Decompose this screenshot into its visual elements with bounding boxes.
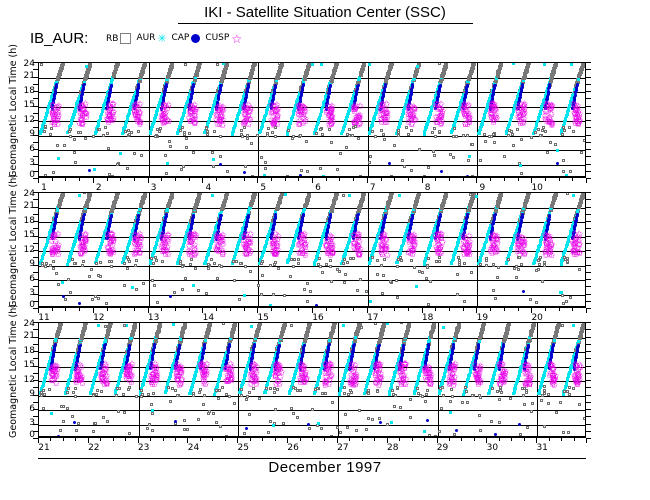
- y-tick: [33, 301, 38, 302]
- data-point-rb: [73, 138, 76, 141]
- data-point-rb: [220, 265, 223, 268]
- data-point-rb: [539, 256, 542, 259]
- data-point-rb: [225, 192, 229, 196]
- data-point-cusp: ✩: [243, 245, 250, 252]
- data-point-rb: [507, 258, 510, 261]
- h-gridline: [39, 266, 585, 267]
- data-point-rb: [44, 125, 47, 128]
- data-point-rb: [512, 144, 515, 147]
- y-tick-right: [586, 171, 591, 172]
- y-tick: [33, 62, 38, 63]
- h-gridline: [39, 107, 585, 108]
- data-point-cusp: ✩: [520, 120, 527, 127]
- data-point-cusp: ✩: [214, 110, 221, 117]
- data-point-aur: [192, 284, 195, 287]
- data-point-rb: [541, 280, 544, 283]
- data-point-rb: [479, 159, 482, 162]
- data-point-rb: [156, 301, 159, 304]
- data-point-aur: [61, 281, 64, 284]
- data-point-rb: [376, 273, 379, 276]
- data-point-aur: [543, 63, 546, 66]
- data-point-cusp: ✩: [105, 251, 112, 258]
- data-point-rb: [60, 405, 63, 408]
- data-point-aur: [560, 291, 563, 294]
- data-point-rb: [497, 266, 500, 269]
- data-point-rb: [463, 300, 466, 303]
- x-tick: [518, 178, 519, 181]
- data-point-rb: [306, 300, 309, 303]
- data-point-aur: [57, 157, 60, 160]
- y-tick-right: [586, 62, 591, 63]
- data-point-rb: [104, 126, 107, 129]
- data-point-rb: [496, 276, 499, 279]
- x-tick: [161, 308, 162, 311]
- data-point-rb: [470, 271, 473, 274]
- data-point-rb: [52, 260, 55, 263]
- data-point-rb: [342, 194, 345, 197]
- data-point-cap: [494, 84, 497, 87]
- data-point-aur: [243, 294, 246, 297]
- data-point-cap: [88, 169, 91, 172]
- y-tick-label-24: 24: [20, 320, 35, 329]
- data-point-rb: [345, 146, 348, 149]
- x-tick: [107, 308, 108, 311]
- data-point-rb: [240, 129, 243, 132]
- data-point-rb: [88, 275, 91, 278]
- y-tick-right: [586, 77, 591, 78]
- data-point-rb: [383, 258, 386, 261]
- y-tick: [33, 98, 38, 99]
- data-point-aur: [570, 63, 573, 66]
- plot-panel-1: Geomagnetic Local Time (h)24211815129630…: [38, 192, 586, 308]
- v-gridline: [139, 323, 140, 436]
- x-tick: [463, 178, 464, 181]
- data-point-rb: [456, 293, 459, 296]
- x-tick: [93, 178, 94, 183]
- data-point-rb: [410, 259, 413, 262]
- data-point-rb: [381, 292, 384, 295]
- data-point-cusp: ✩: [163, 235, 170, 242]
- x-tick: [38, 178, 39, 183]
- data-point-rb: [346, 261, 349, 264]
- data-point-rb: [190, 258, 193, 261]
- data-point-rb: [371, 130, 374, 133]
- data-point-rb: [292, 135, 295, 138]
- data-point-cusp: ✩: [134, 242, 141, 249]
- data-point-cusp: ✩: [465, 120, 472, 127]
- x-tick: [435, 308, 436, 311]
- x-tick: [298, 308, 299, 311]
- x-tick: [216, 178, 217, 181]
- data-point-rb: [484, 140, 487, 143]
- data-point-rb: [537, 259, 540, 262]
- data-point-rb: [537, 268, 540, 271]
- v-gridline: [238, 323, 239, 436]
- data-point-rb: [305, 140, 308, 143]
- data-point-rb: [88, 62, 92, 65]
- data-point-cusp: ✩: [487, 247, 494, 254]
- data-point-rb: [433, 154, 436, 157]
- data-point-rb: [153, 284, 156, 287]
- data-point-rb: [126, 167, 129, 170]
- h-gridline: [39, 222, 585, 223]
- data-point-rb: [81, 264, 84, 267]
- data-point-cusp: ✩: [110, 102, 117, 109]
- data-point-rb: [123, 262, 126, 265]
- data-point-rb: [462, 134, 465, 137]
- legend-label-cusp: CUSP: [205, 33, 229, 43]
- data-point-rb: [421, 271, 424, 274]
- data-point-rb: [181, 265, 184, 268]
- data-point-aur: [452, 256, 455, 259]
- y-tick-right: [586, 106, 591, 107]
- data-point-aur: [572, 194, 575, 197]
- data-point-aur: [166, 162, 169, 165]
- data-point-rb: [164, 154, 167, 157]
- data-point-rb: [173, 291, 176, 294]
- data-point-rb: [256, 134, 259, 137]
- x-tick: [586, 178, 587, 183]
- data-point-cusp: ✩: [187, 119, 194, 126]
- data-point-rb: [182, 165, 185, 168]
- data-point-rb: [197, 289, 200, 292]
- data-point-rb: [303, 288, 306, 291]
- x-tick: [298, 178, 299, 181]
- data-point-rb: [249, 270, 252, 273]
- data-point-rb: [40, 391, 43, 394]
- x-tick: [189, 308, 190, 311]
- y-tick: [33, 236, 38, 237]
- data-point-cap: [384, 214, 387, 217]
- data-point-cap: [439, 213, 442, 216]
- data-point-rb: [184, 277, 187, 280]
- y-tick-right: [586, 91, 591, 92]
- y-tick: [33, 243, 38, 244]
- data-point-rb: [321, 133, 324, 136]
- data-point-rb: [335, 62, 339, 66]
- data-point-aur: [212, 158, 215, 161]
- data-point-rb: [538, 263, 541, 266]
- data-point-rb: [568, 126, 571, 129]
- legend-item-cap: CAP: [171, 34, 200, 44]
- y-tick-right: [586, 120, 591, 121]
- data-point-aur: [263, 174, 266, 177]
- data-point-cap: [220, 214, 223, 217]
- v-gridline: [438, 323, 439, 436]
- data-point-aur: [416, 65, 419, 68]
- x-tick: [148, 178, 149, 183]
- data-point-rb: [410, 169, 413, 172]
- data-point-rb: [271, 131, 274, 134]
- filled-circle-icon: [191, 34, 200, 43]
- data-point-cusp: ✩: [352, 247, 359, 254]
- data-point-aur: [211, 194, 214, 197]
- data-point-aur: [284, 193, 287, 196]
- data-point-rb: [452, 156, 455, 159]
- data-point-rb: [290, 258, 293, 261]
- data-point-rb: [143, 192, 147, 195]
- data-point-rb: [137, 130, 140, 133]
- v-gridline: [368, 63, 369, 176]
- x-tick: [408, 308, 409, 311]
- x-tick: [394, 178, 395, 181]
- data-point-cusp: ✩: [185, 104, 192, 111]
- data-point-rb: [269, 264, 272, 267]
- data-point-rb: [396, 265, 399, 268]
- y-tick: [33, 164, 38, 165]
- data-point-cap: [357, 84, 360, 87]
- data-point-cusp: ✩: [136, 119, 143, 126]
- y-tick: [33, 207, 38, 208]
- y-tick: [33, 120, 38, 121]
- data-point-cusp: ✩: [192, 107, 199, 114]
- data-point-rb: [260, 293, 263, 296]
- data-point-rb: [260, 156, 263, 159]
- data-point-rb: [362, 62, 366, 66]
- y-tick: [33, 91, 38, 92]
- data-point-rb: [82, 260, 85, 263]
- data-point-rb: [396, 296, 399, 299]
- data-point-cap: [465, 220, 468, 223]
- data-point-cap: [329, 84, 332, 87]
- data-point-rb: [278, 62, 281, 65]
- data-point-rb: [287, 129, 290, 132]
- data-point-cap: [384, 83, 387, 86]
- data-point-cap: [299, 174, 302, 177]
- data-point-cusp: ✩: [435, 246, 442, 253]
- data-point-cusp: ✩: [243, 252, 250, 259]
- data-point-rb: [429, 280, 432, 283]
- data-point-cusp: ✩: [571, 232, 578, 239]
- data-point-rb: [469, 193, 472, 196]
- data-point-rb: [306, 282, 309, 285]
- data-point-rb: [216, 63, 219, 66]
- data-point-rb: [83, 192, 86, 194]
- data-point-rb: [580, 151, 583, 154]
- data-point-rb: [343, 281, 346, 284]
- data-point-rb: [260, 262, 263, 265]
- data-point-aur: [556, 149, 559, 152]
- data-point-rb: [527, 62, 531, 65]
- data-point-rb: [91, 298, 94, 301]
- data-point-rb: [427, 303, 430, 306]
- data-point-rb: [479, 263, 482, 266]
- data-point-rb: [530, 136, 533, 139]
- data-point-rb: [546, 151, 549, 154]
- y-tick: [33, 142, 38, 143]
- data-point-aur: [425, 125, 428, 128]
- data-point-cusp: ✩: [54, 105, 61, 112]
- y-tick-right: [586, 294, 591, 295]
- data-point-cap: [357, 213, 360, 216]
- data-point-aur: [565, 174, 568, 177]
- x-tick: [490, 308, 491, 311]
- legend-label-aur: AUR: [136, 33, 155, 43]
- h-gridline: [39, 121, 585, 122]
- data-point-rb: [133, 152, 136, 155]
- data-point-cusp: ✩: [243, 117, 250, 124]
- data-point-rb: [527, 192, 531, 195]
- data-point-cusp: ✩: [274, 234, 281, 241]
- data-point-rb: [330, 141, 333, 144]
- legend-item-cusp: CUSP ☆: [205, 34, 240, 44]
- y-tick: [33, 257, 38, 258]
- x-tick: [463, 308, 464, 311]
- data-point-rb: [126, 267, 129, 270]
- data-point-cusp: ✩: [52, 249, 59, 256]
- v-gridline: [258, 63, 259, 176]
- x-tick: [504, 308, 505, 311]
- data-point-rb: [170, 192, 174, 196]
- plot-panel-0: Geomagnetic Local Time (h)24211815129630…: [38, 62, 586, 178]
- data-point-aur: [131, 286, 134, 289]
- data-point-rb: [135, 288, 138, 291]
- plot-area-1: ✩✩✩✩✩✩✩✩✩✩✩✩✩✩✩✩✩✩✩✩✩✩✩✩✩✩✩✩✩✩✩✩✩✩✩✩✩✩✩✩…: [38, 192, 586, 308]
- h-gridline: [39, 165, 585, 166]
- data-point-cusp: ✩: [435, 232, 442, 239]
- x-tick: [120, 178, 121, 181]
- data-point-rb: [110, 260, 113, 263]
- data-point-cusp: ✩: [545, 119, 552, 126]
- data-point-rb: [152, 262, 155, 265]
- data-point-rb: [116, 62, 120, 66]
- data-point-rb: [207, 263, 210, 266]
- data-point-cusp: ✩: [299, 233, 306, 240]
- legend-item-aur: AUR ✳: [136, 34, 166, 44]
- data-point-rb: [79, 131, 82, 134]
- data-point-rb: [183, 133, 186, 136]
- data-point-rb: [277, 267, 280, 270]
- data-point-rb: [185, 146, 188, 149]
- x-tick: [52, 178, 53, 181]
- data-point-cusp: ✩: [462, 105, 469, 112]
- data-point-rb: [212, 165, 215, 168]
- y-tick: [33, 272, 38, 273]
- data-point-rb: [431, 131, 434, 134]
- data-point-aur: [475, 195, 478, 198]
- data-point-rb: [150, 257, 153, 260]
- data-point-rb: [56, 144, 59, 147]
- data-point-rb: [185, 137, 188, 140]
- data-point-rb: [561, 294, 564, 297]
- data-point-rb: [432, 150, 435, 153]
- y-tick-right: [586, 69, 591, 70]
- data-point-rb: [336, 268, 339, 271]
- data-point-rb: [40, 63, 43, 66]
- data-point-rb: [213, 262, 216, 265]
- data-point-rb: [198, 62, 202, 65]
- data-point-rb: [427, 166, 430, 169]
- data-point-aur: [415, 285, 418, 288]
- y-tick: [33, 228, 38, 229]
- x-tick: [107, 178, 108, 181]
- x-tick: [339, 178, 340, 181]
- legend: RB AUR ✳ CAP CUSP ☆: [106, 33, 245, 45]
- series-name-label: IB_AUR:: [30, 30, 88, 47]
- data-point-cap: [243, 171, 246, 174]
- x-tick: [476, 178, 477, 183]
- x-tick: [518, 308, 519, 311]
- data-point-rb: [128, 260, 131, 263]
- y-tick-right: [586, 279, 591, 280]
- data-point-cusp: ✩: [161, 119, 168, 126]
- data-point-rb: [135, 259, 138, 262]
- data-point-rb: [453, 127, 456, 130]
- data-point-cap: [411, 214, 414, 217]
- y-tick-right: [586, 164, 591, 165]
- data-point-cap: [165, 213, 168, 216]
- data-point-rb: [246, 134, 249, 137]
- data-point-rb: [106, 132, 109, 135]
- data-point-cusp: ✩: [136, 232, 143, 239]
- data-point-rb: [383, 138, 386, 141]
- v-gridline: [338, 323, 339, 436]
- data-point-rb: [116, 163, 119, 166]
- data-point-rb: [246, 137, 249, 140]
- data-point-aur: [315, 258, 318, 261]
- x-tick: [394, 308, 395, 311]
- data-point-rb: [343, 258, 346, 261]
- h-gridline: [39, 237, 585, 238]
- data-point-cusp: ✩: [382, 111, 389, 118]
- data-point-rb: [543, 261, 546, 264]
- data-point-cap: [521, 213, 524, 216]
- y-tick: [33, 192, 38, 193]
- legend-item-rb: RB: [106, 33, 131, 45]
- legend-label-cap: CAP: [171, 33, 189, 43]
- x-tick: [435, 178, 436, 181]
- y-tick: [33, 221, 38, 222]
- data-point-rb: [116, 192, 120, 195]
- data-point-rb: [315, 132, 318, 135]
- data-point-rb: [321, 271, 324, 274]
- data-point-cusp: ✩: [407, 238, 414, 245]
- data-point-rb: [61, 62, 65, 66]
- data-point-cusp: ✩: [353, 104, 360, 111]
- data-point-cap: [520, 219, 523, 222]
- data-point-rb: [61, 193, 65, 197]
- data-point-aur: [78, 194, 81, 197]
- legend-label-rb: RB: [106, 34, 118, 44]
- data-point-rb: [181, 288, 184, 291]
- y-axis-title: Geomagnetic Local Time (h): [8, 62, 19, 178]
- data-point-aur: [398, 194, 401, 197]
- data-point-rb: [71, 258, 74, 261]
- data-point-aur: [93, 168, 96, 171]
- data-point-cusp: ✩: [409, 248, 416, 255]
- data-point-cap: [55, 83, 58, 86]
- data-point-aur: [222, 62, 225, 65]
- data-point-aur: [269, 304, 272, 307]
- data-point-aur: [41, 255, 44, 258]
- x-tick: [230, 178, 231, 181]
- data-point-rb: [562, 126, 565, 129]
- data-point-rb: [543, 264, 546, 267]
- data-point-rb: [267, 127, 270, 130]
- x-tick: [134, 308, 135, 311]
- data-point-rb: [205, 127, 208, 130]
- v-gridline: [149, 63, 150, 176]
- data-point-rb: [59, 322, 63, 326]
- data-point-rb: [92, 135, 95, 138]
- data-point-rb: [225, 62, 229, 66]
- data-point-rb: [562, 170, 565, 173]
- data-point-rb: [330, 280, 333, 283]
- data-point-rb: [356, 289, 359, 292]
- data-point-rb: [357, 137, 360, 140]
- data-point-rb: [499, 62, 503, 65]
- data-point-rb: [566, 192, 569, 195]
